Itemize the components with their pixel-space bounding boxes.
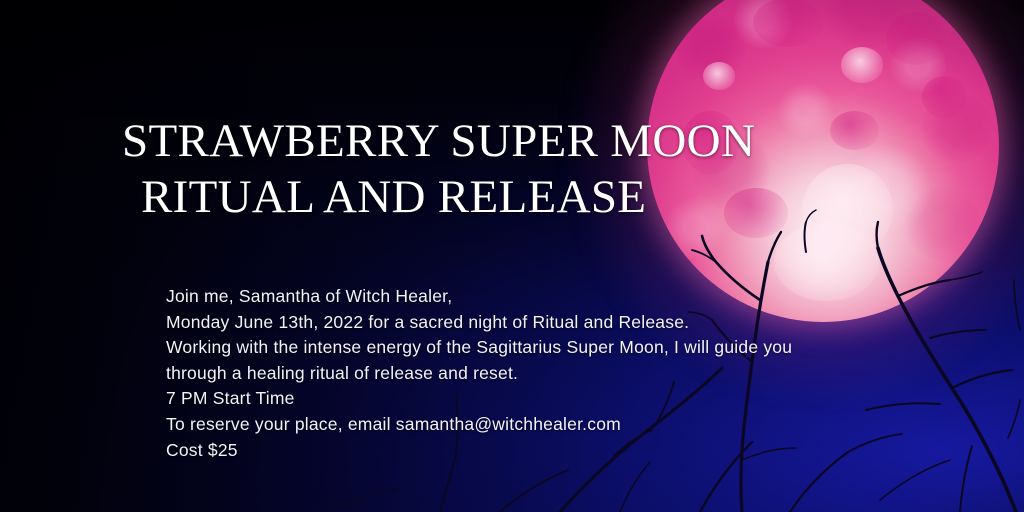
detail-line-desc-2: through a healing ritual of release and … bbox=[166, 361, 906, 387]
headline-line-1: STRAWBERRY SUPER MOON bbox=[0, 113, 1024, 169]
event-details-block: Join me, Samantha of Witch Healer, Monda… bbox=[166, 284, 906, 463]
detail-line-desc-1: Working with the intense energy of the S… bbox=[166, 335, 906, 361]
poster-headline: STRAWBERRY SUPER MOON RITUAL AND RELEASE bbox=[0, 113, 1024, 225]
headline-line-2: RITUAL AND RELEASE bbox=[0, 169, 1024, 225]
detail-line-time: 7 PM Start Time bbox=[166, 386, 906, 412]
poster-canvas: STRAWBERRY SUPER MOON RITUAL AND RELEASE… bbox=[0, 0, 1024, 512]
detail-line-cost: Cost $25 bbox=[166, 438, 906, 464]
detail-line-date: Monday June 13th, 2022 for a sacred nigh… bbox=[166, 310, 906, 336]
detail-line-intro: Join me, Samantha of Witch Healer, bbox=[166, 284, 906, 310]
detail-line-reserve-email[interactable]: To reserve your place, email samantha@wi… bbox=[166, 412, 906, 438]
